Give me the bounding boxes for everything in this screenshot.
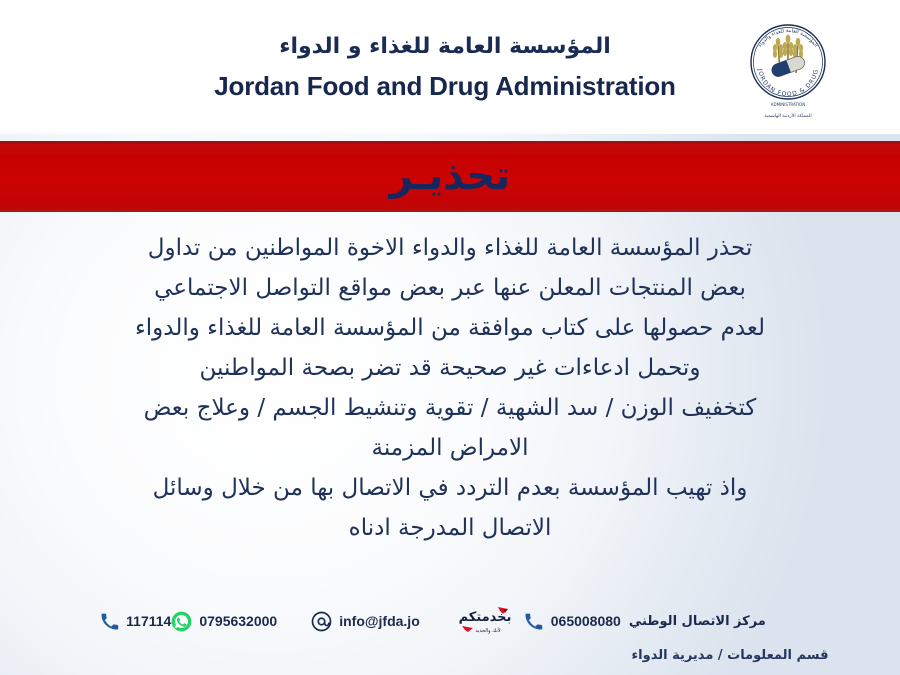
contact-whatsapp[interactable]: 0795632000 — [171, 611, 277, 632]
body-line: بعض المنتجات المعلن عنها عبر بعض مواقع ا… — [50, 268, 850, 308]
body-line: تحذر المؤسسة العامة للغذاء والدواء الاخو… — [50, 228, 850, 268]
whatsapp-number: 0795632000 — [199, 613, 277, 629]
jfda-logo: ADMINISTRATION المملكة الأردنية الهاشمية… — [734, 18, 842, 122]
phone-icon — [524, 612, 543, 631]
body-line: الاتصال المدرجة ادناه — [50, 508, 850, 548]
svg-text:ADMINISTRATION: ADMINISTRATION — [771, 102, 805, 107]
svg-text:المملكة الأردنية الهاشمية: المملكة الأردنية الهاشمية — [764, 112, 811, 119]
warning-banner: تحذيـر — [0, 141, 900, 212]
warning-poster: المؤسسة العامة للغذاء و الدواء Jordan Fo… — [0, 0, 900, 675]
hotline-number: 117114 — [126, 613, 171, 629]
footer-department-note: قسم المعلومات / مديرية الدواء — [600, 648, 860, 663]
body-line: لعدم حصولها على كتاب موافقة من المؤسسة ا… — [50, 308, 850, 348]
body-line: كتخفيف الوزن / سد الشهية / تقوية وتنشيط … — [50, 388, 850, 428]
email-address: info@jfda.jo — [339, 613, 420, 629]
bikhidmatkum-logo-icon: بخدمتكم لأنك والجديد — [454, 604, 516, 638]
svg-text:لأنك والجديد: لأنك والجديد — [475, 627, 500, 634]
phone-icon — [100, 612, 119, 631]
warning-body: تحذر المؤسسة العامة للغذاء والدواء الاخو… — [50, 228, 850, 548]
contact-strip: 117114 0795632000 info@jfd — [0, 600, 900, 642]
contact-call-center[interactable]: بخدمتكم لأنك والجديد 065008080 مركز الات… — [454, 604, 766, 638]
call-center-label: مركز الاتصال الوطني — [629, 614, 766, 629]
contact-hotline[interactable]: 117114 — [100, 612, 171, 631]
contact-email[interactable]: info@jfda.jo — [311, 611, 420, 632]
at-icon — [311, 611, 332, 632]
body-line: وتحمل ادعاءات غير صحيحة قد تضر بصحة المو… — [50, 348, 850, 388]
warning-title: تحذيـر — [390, 156, 511, 196]
poster-header: المؤسسة العامة للغذاء و الدواء Jordan Fo… — [0, 0, 900, 134]
whatsapp-icon — [171, 611, 192, 632]
body-line: الامراض المزمنة — [50, 428, 850, 468]
body-line: واذ تهيب المؤسسة بعدم التردد في الاتصال … — [50, 468, 850, 508]
jfda-emblem-icon: ADMINISTRATION المملكة الأردنية الهاشمية… — [734, 18, 842, 122]
call-center-number: 065008080 — [551, 613, 621, 629]
